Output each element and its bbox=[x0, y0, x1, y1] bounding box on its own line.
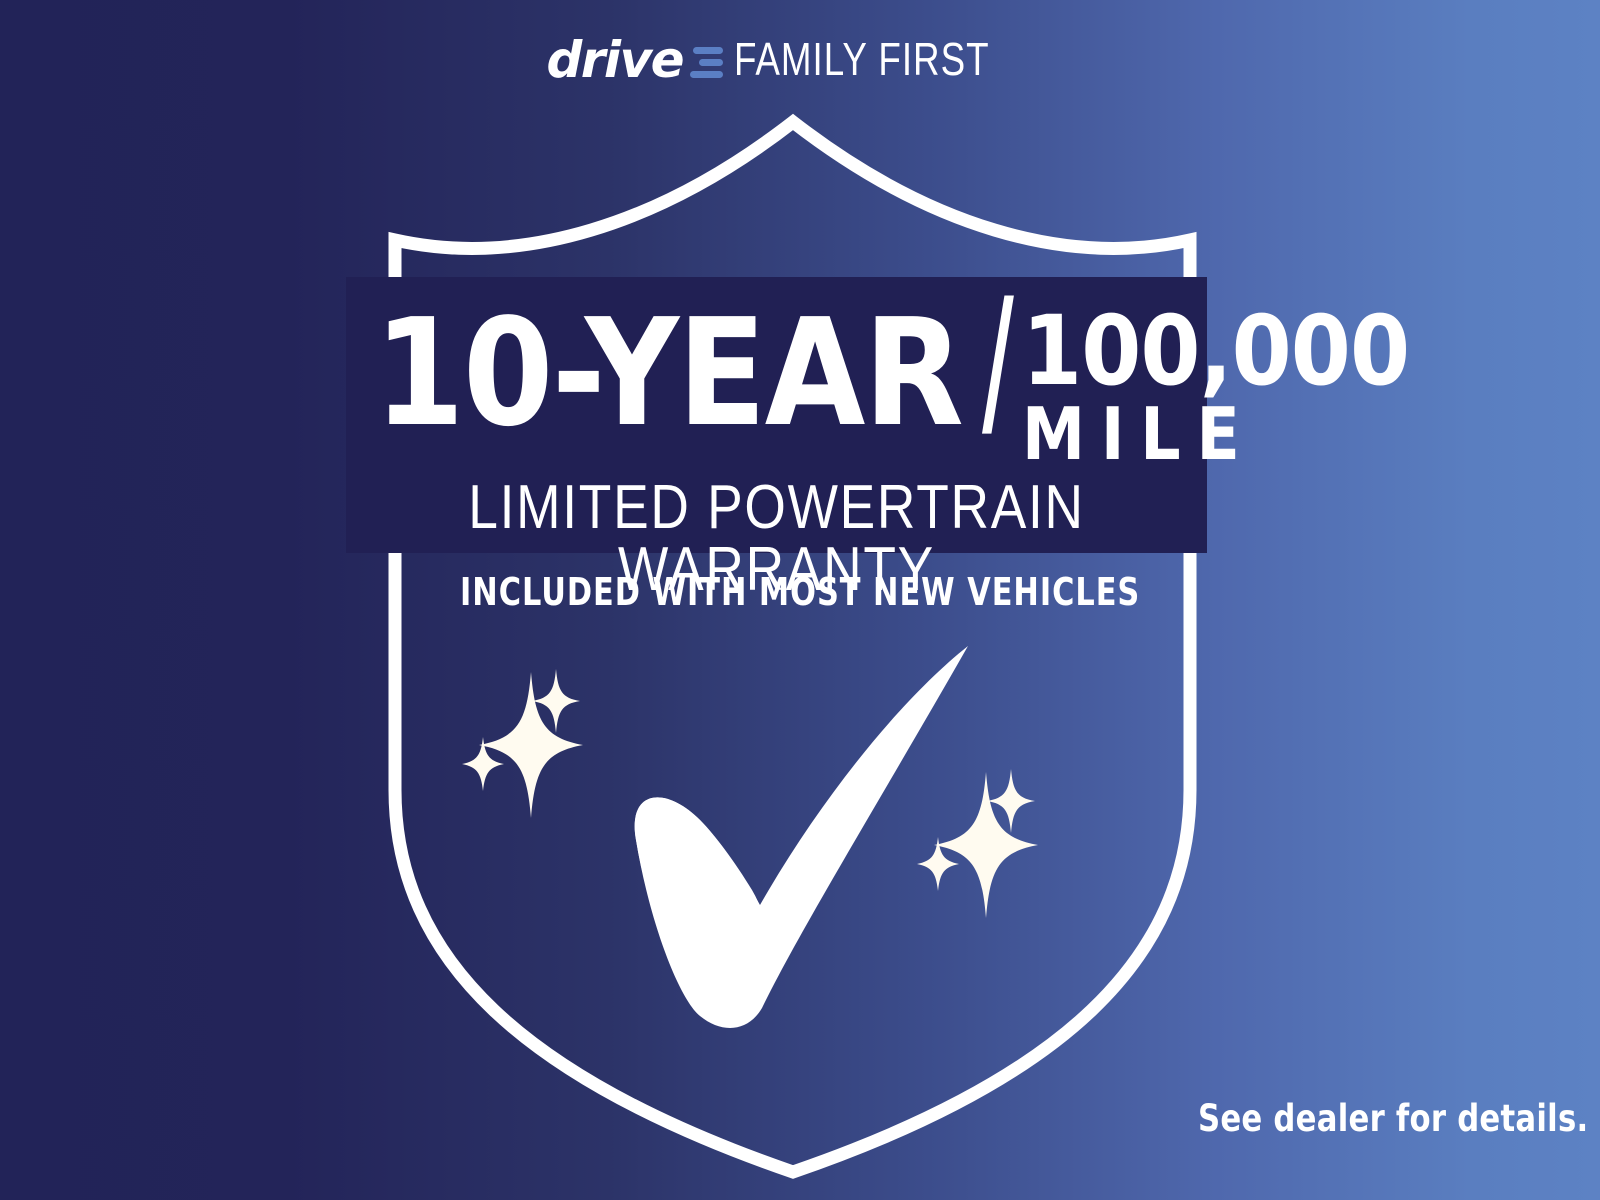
disclaimer: See dealer for details. bbox=[1118, 1097, 1588, 1140]
warranty-headline: 10-YEAR / 100,000 MILE bbox=[374, 299, 1184, 474]
warranty-mileage-group: 100,000 MILE bbox=[1022, 305, 1452, 469]
warranty-miles: 100,000 bbox=[1022, 305, 1409, 397]
check-icon-stem bbox=[635, 797, 769, 1008]
warranty-availability: INCLUDED WITH MOST NEW VEHICLES bbox=[0, 570, 1600, 614]
sparkle-icon bbox=[917, 769, 1038, 918]
headline-banner: 10-YEAR / 100,000 MILE LIMITED POWERTRAI… bbox=[346, 277, 1207, 553]
headline-separator: / bbox=[982, 285, 1014, 435]
warranty-years: 10-YEAR bbox=[374, 299, 962, 447]
warranty-miles-unit: MILE bbox=[1022, 399, 1401, 469]
warranty-promo-banner: drive FAMILY FIRST 10-YEAR / bbox=[0, 0, 1600, 1200]
sparkle-icon bbox=[462, 669, 583, 818]
